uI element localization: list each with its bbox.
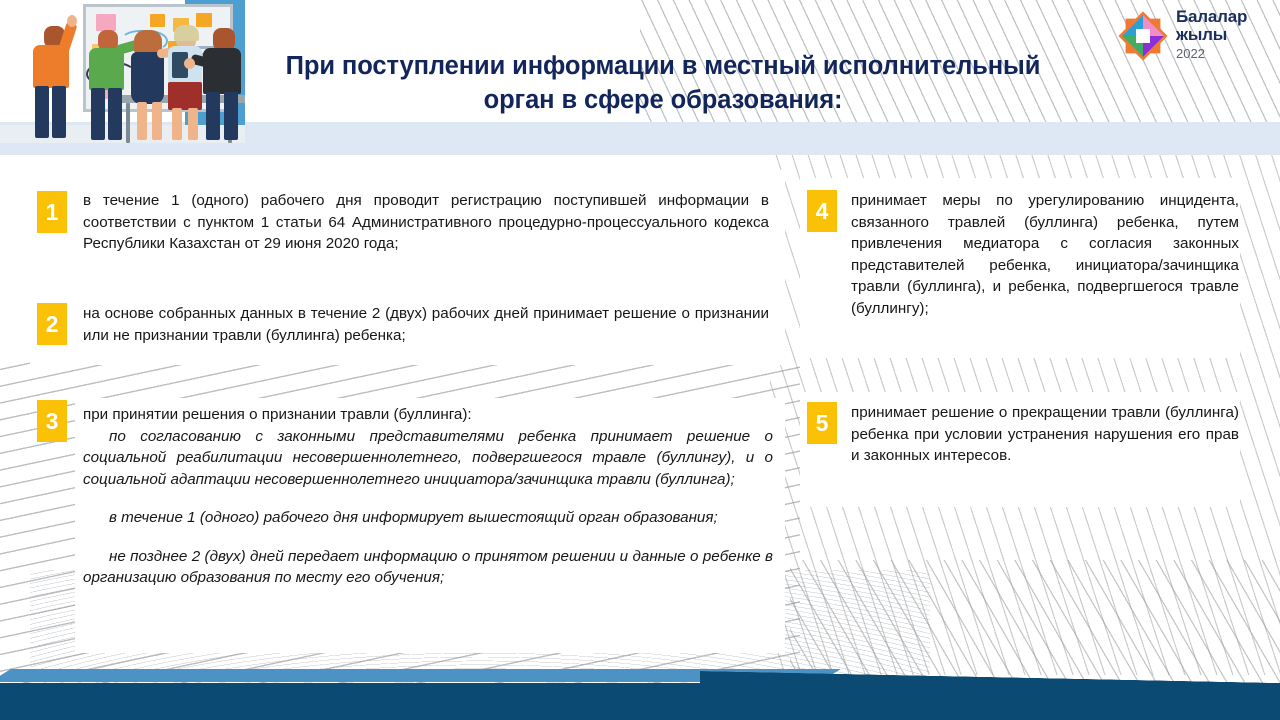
- team-brainstorm-whiteboard-illustration: [0, 0, 245, 143]
- item-text-1: в течение 1 (одного) рабочего дня провод…: [83, 190, 769, 255]
- item-3-paragraph-1: при принятии решения о признании травли …: [83, 404, 773, 426]
- slide-root: При поступлении информации в местный исп…: [0, 0, 1280, 720]
- item-number-badge-3: 3: [37, 400, 67, 442]
- item-3-paragraph-2: по согласованию с законными представител…: [83, 426, 773, 491]
- balalar-zhyly-logo: Балалар жылы 2022: [1114, 5, 1276, 67]
- item-number-badge-2: 2: [37, 303, 67, 345]
- bottom-bar: [0, 683, 1280, 720]
- logo-year: 2022: [1176, 46, 1247, 62]
- item-1-paragraph-1: в течение 1 (одного) рабочего дня провод…: [83, 190, 769, 255]
- page-title: При поступлении информации в местный исп…: [248, 50, 1078, 117]
- item-text-3: при принятии решения о признании травли …: [83, 404, 773, 589]
- item-4-paragraph-1: принимает меры по урегулированию инциден…: [851, 190, 1239, 319]
- item-number-badge-1: 1: [37, 191, 67, 233]
- item-5-paragraph-1: принимает решение о прекращении травли (…: [851, 402, 1239, 467]
- item-text-2: на основе собранных данных в течение 2 (…: [83, 303, 769, 346]
- item-number-badge-5: 5: [807, 402, 837, 444]
- item-2-paragraph-1: на основе собранных данных в течение 2 (…: [83, 303, 769, 346]
- item-3-paragraph-4: не позднее 2 (двух) дней передает информ…: [83, 546, 773, 589]
- item-number-badge-4: 4: [807, 190, 837, 232]
- item-text-5: принимает решение о прекращении травли (…: [851, 402, 1239, 467]
- item-3-paragraph-3: в течение 1 (одного) рабочего дня информ…: [83, 507, 773, 529]
- item-text-4: принимает меры по урегулированию инциден…: [851, 190, 1239, 319]
- logo-line-2: жылы: [1176, 26, 1247, 44]
- flower-star-logo-icon: [1114, 7, 1172, 65]
- logo-line-1: Балалар: [1176, 8, 1247, 26]
- bottom-bar-slant: [700, 671, 1280, 683]
